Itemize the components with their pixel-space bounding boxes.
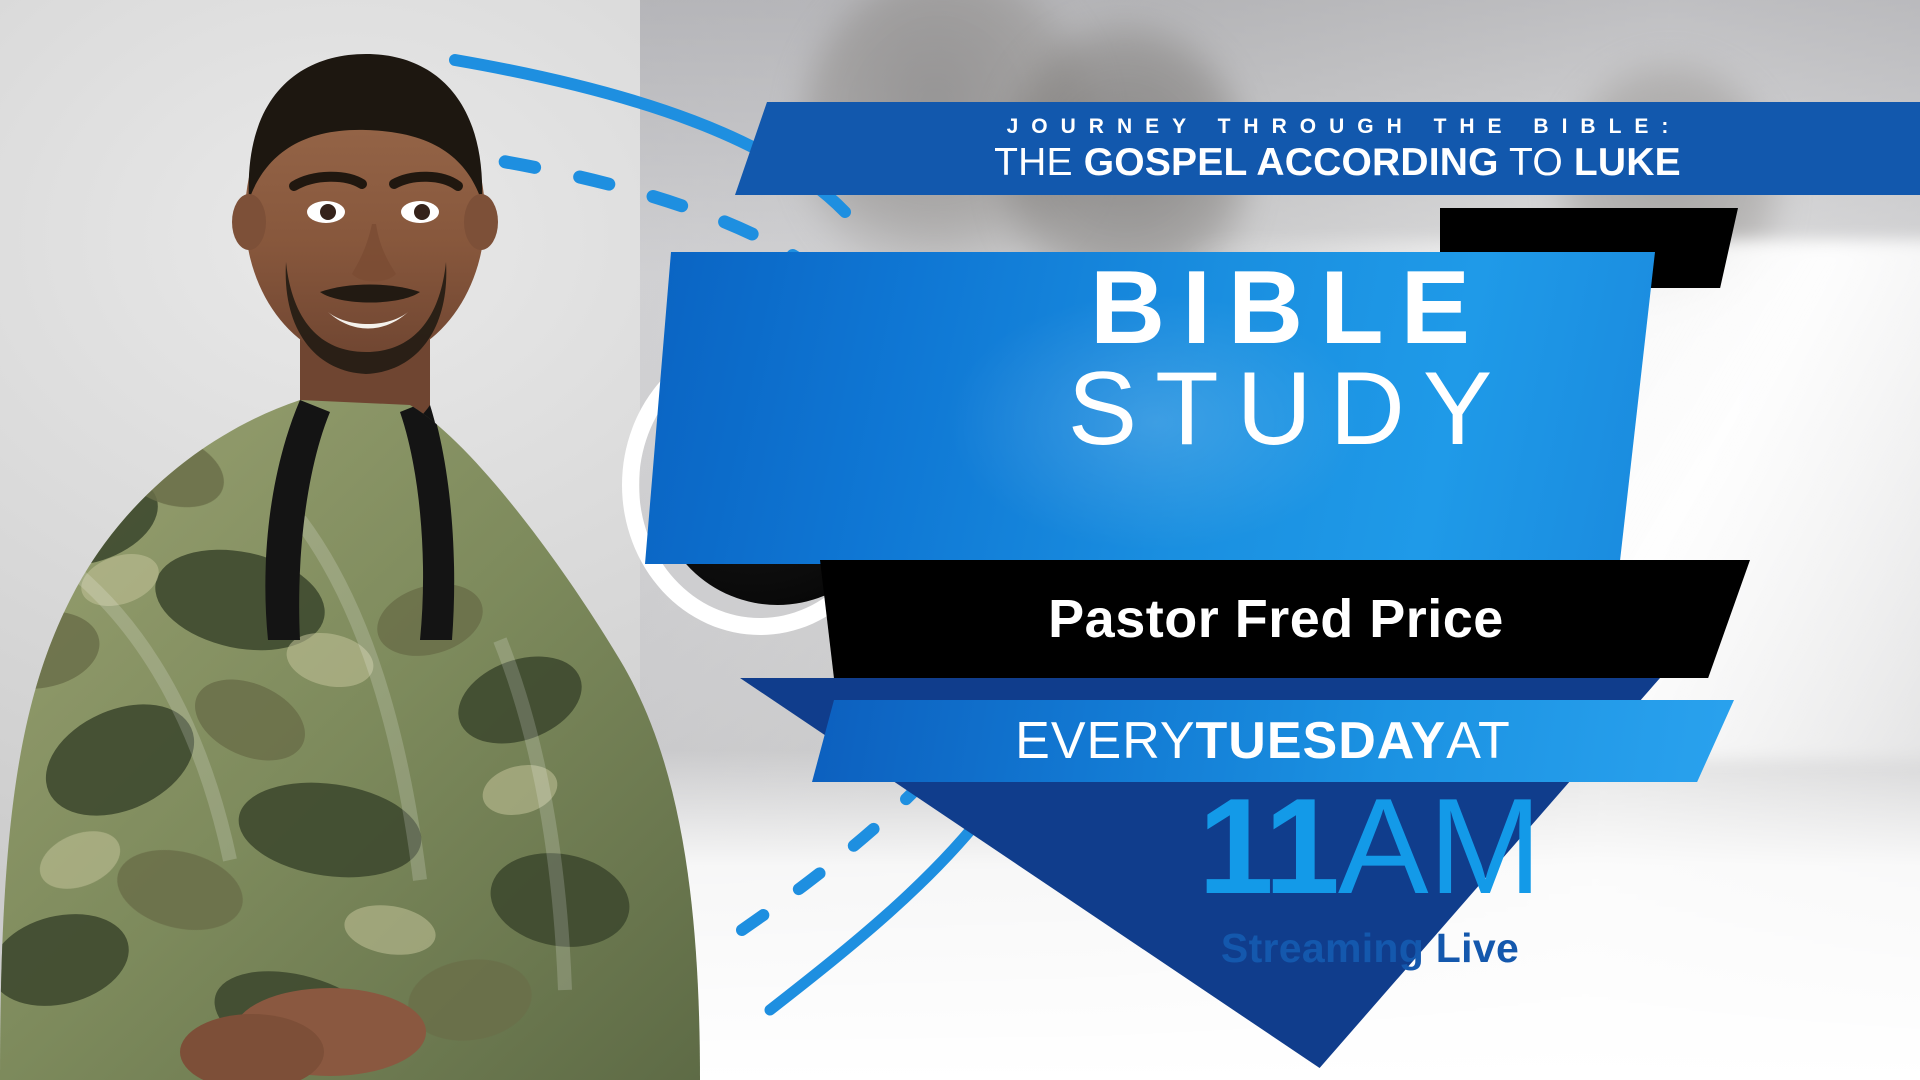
title-block: BIBLE STUDY <box>930 258 1630 462</box>
time-number: 11 <box>1198 770 1338 922</box>
speaker-name: Pastor Fred Price <box>820 560 1750 678</box>
title-line-study: STUDY <box>930 356 1630 462</box>
schedule-prefix: EVERY <box>1015 715 1195 767</box>
poster-canvas: JOURNEY THROUGH THE BIBLE: THE GOSPEL AC… <box>0 0 1920 1080</box>
streaming-label: Streaming Live <box>1060 928 1680 969</box>
header-banner: JOURNEY THROUGH THE BIBLE: THE GOSPEL AC… <box>735 102 1920 195</box>
subtitle-part-to: TO <box>1499 141 1574 184</box>
schedule-day: TUESDAY <box>1196 715 1447 767</box>
title-line-bible: BIBLE <box>930 258 1630 360</box>
series-subtitle: THE GOSPEL ACCORDING TO LUKE <box>994 143 1681 182</box>
subtitle-part-gospel-according: GOSPEL ACCORDING <box>1084 141 1499 184</box>
subtitle-part-the: THE <box>994 141 1084 184</box>
time-row: 11AM <box>1060 778 1680 914</box>
time-meridiem: AM <box>1338 770 1542 922</box>
subtitle-part-luke: LUKE <box>1574 141 1681 184</box>
schedule-suffix: AT <box>1446 715 1511 767</box>
kicker-text: JOURNEY THROUGH THE BIBLE: <box>994 116 1682 137</box>
